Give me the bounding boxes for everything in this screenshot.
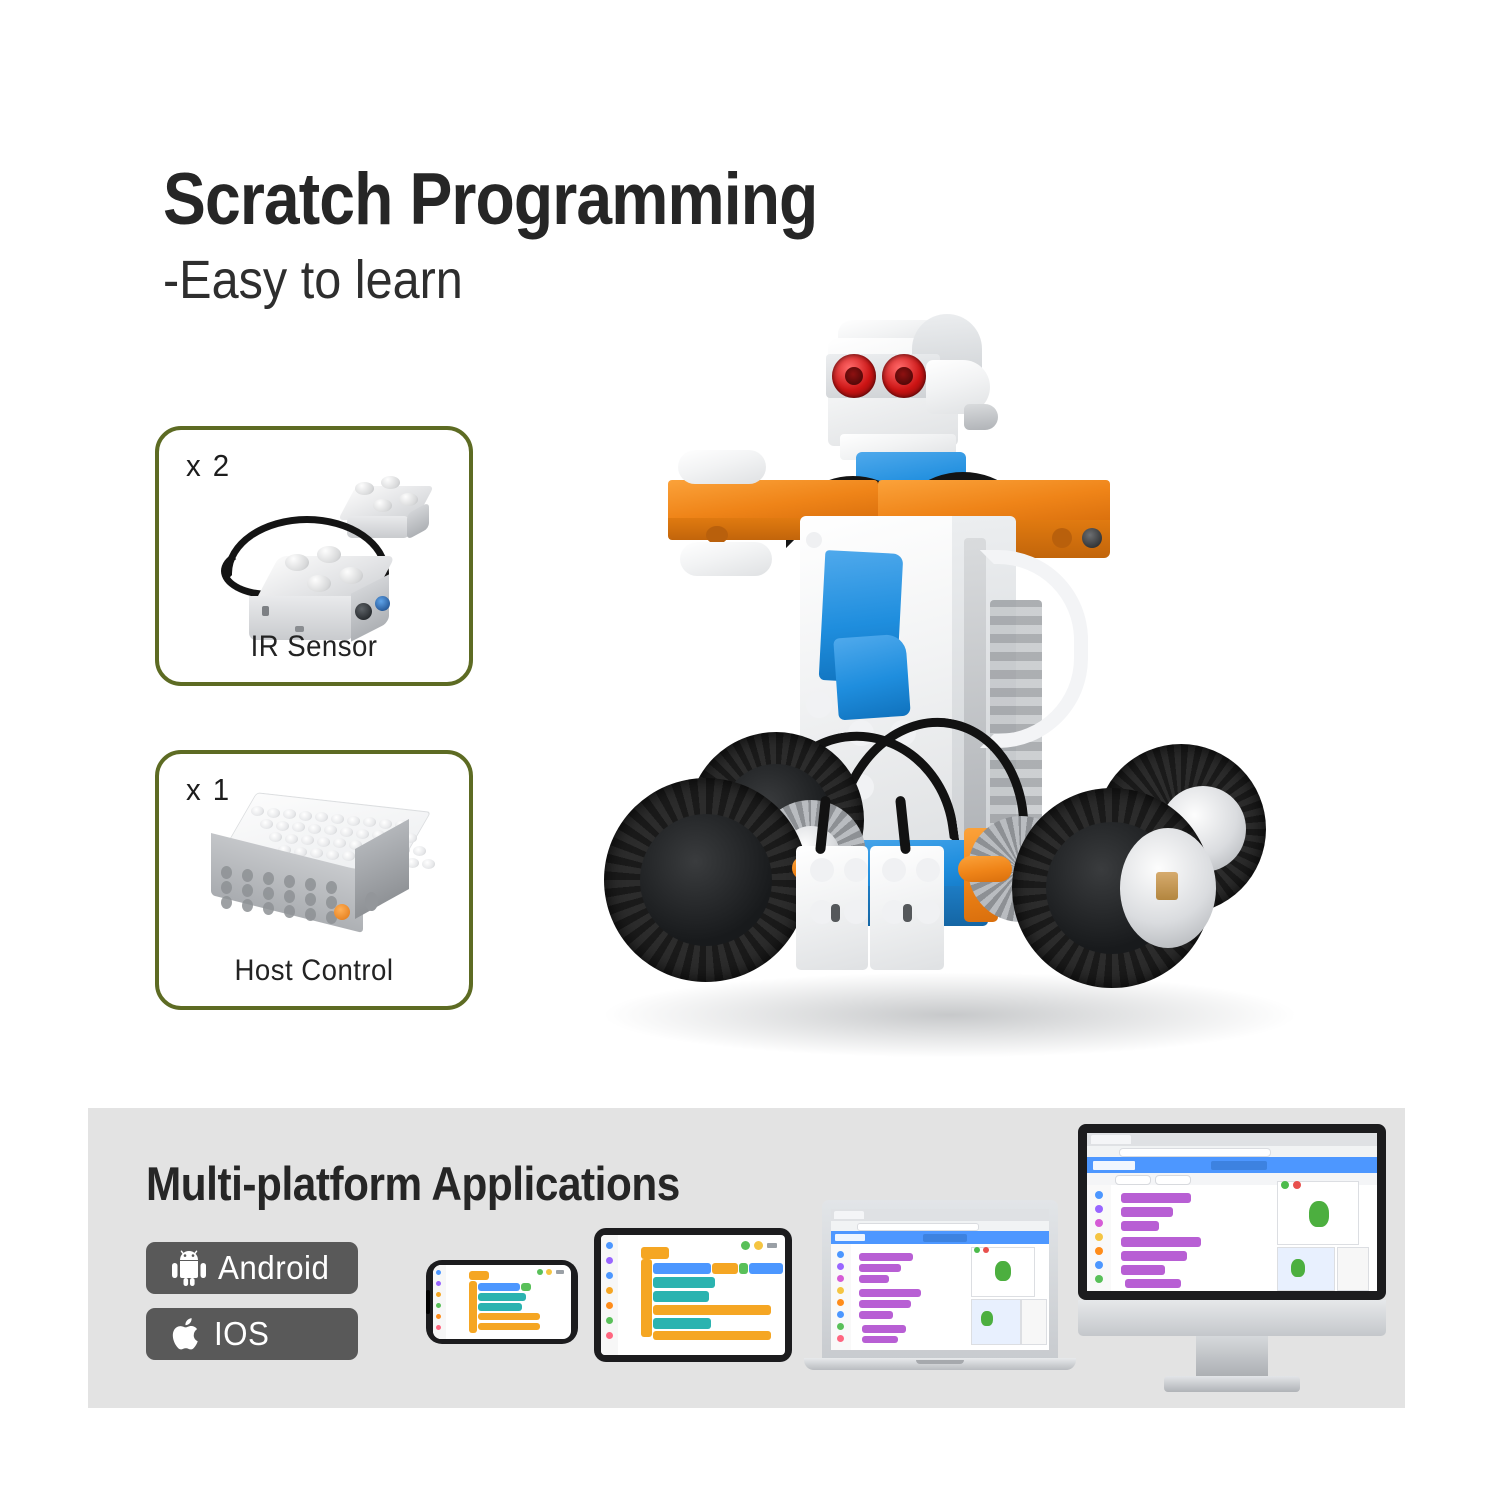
vent-hole — [221, 896, 232, 909]
vent-hole — [284, 890, 295, 903]
brick-stud — [251, 806, 264, 816]
host-control-icon — [159, 796, 469, 968]
brick-stud — [285, 834, 298, 844]
vent-hole — [284, 875, 295, 888]
device-desktop-monitor — [1078, 1124, 1386, 1400]
vent-hole — [242, 869, 253, 882]
vent-hole — [263, 902, 274, 915]
badge-label: Android — [218, 1249, 329, 1287]
brick-stud — [379, 819, 392, 829]
vent-hole — [305, 908, 316, 921]
brick-stud — [299, 811, 312, 821]
part-label: Host Control — [171, 954, 456, 988]
brick-stud — [317, 837, 330, 847]
vent-hole — [221, 881, 232, 894]
brick-stud — [340, 827, 353, 837]
vent-hole — [221, 866, 232, 879]
brick-stud — [260, 819, 273, 829]
vent-hole — [305, 878, 316, 891]
badge-label: IOS — [214, 1315, 269, 1353]
vent-hole — [263, 887, 274, 900]
vent-hole — [263, 872, 274, 885]
vent-hole — [305, 893, 316, 906]
part-card-ir-sensor: x 2 IR Sensor — [155, 426, 473, 686]
part-card-host-control: x 1 Host Control — [155, 750, 473, 1010]
device-tablet — [594, 1228, 792, 1362]
apple-icon — [172, 1316, 202, 1352]
brick-stud — [267, 808, 280, 818]
banner-title: Multi-platform Applications — [146, 1156, 680, 1211]
brick-stud — [331, 814, 344, 824]
brick-stud — [356, 829, 369, 839]
vent-hole — [242, 884, 253, 897]
brick-stud — [276, 821, 289, 831]
brick-stud — [308, 824, 321, 834]
robot-hero-image — [560, 300, 1350, 1090]
vent-hole — [326, 881, 337, 894]
brick-stud — [269, 832, 282, 842]
page-subtitle: -Easy to learn — [163, 253, 463, 307]
brick-stud — [347, 816, 360, 826]
multi-platform-banner: Multi-platform Applications Android IOS — [88, 1108, 1405, 1408]
device-phone — [426, 1260, 578, 1344]
device-laptop — [804, 1200, 1076, 1390]
part-label: IR Sensor — [171, 630, 456, 664]
ir-sensor-icon — [159, 472, 469, 644]
vent-hole — [284, 905, 295, 918]
brick-stud — [326, 850, 339, 860]
page-title: Scratch Programming — [163, 163, 817, 236]
vent-hole — [242, 899, 253, 912]
badge-android[interactable]: Android — [146, 1242, 358, 1294]
android-icon — [172, 1250, 206, 1286]
brick-stud — [413, 846, 426, 856]
brick-stud — [422, 859, 435, 869]
badge-ios[interactable]: IOS — [146, 1308, 358, 1360]
